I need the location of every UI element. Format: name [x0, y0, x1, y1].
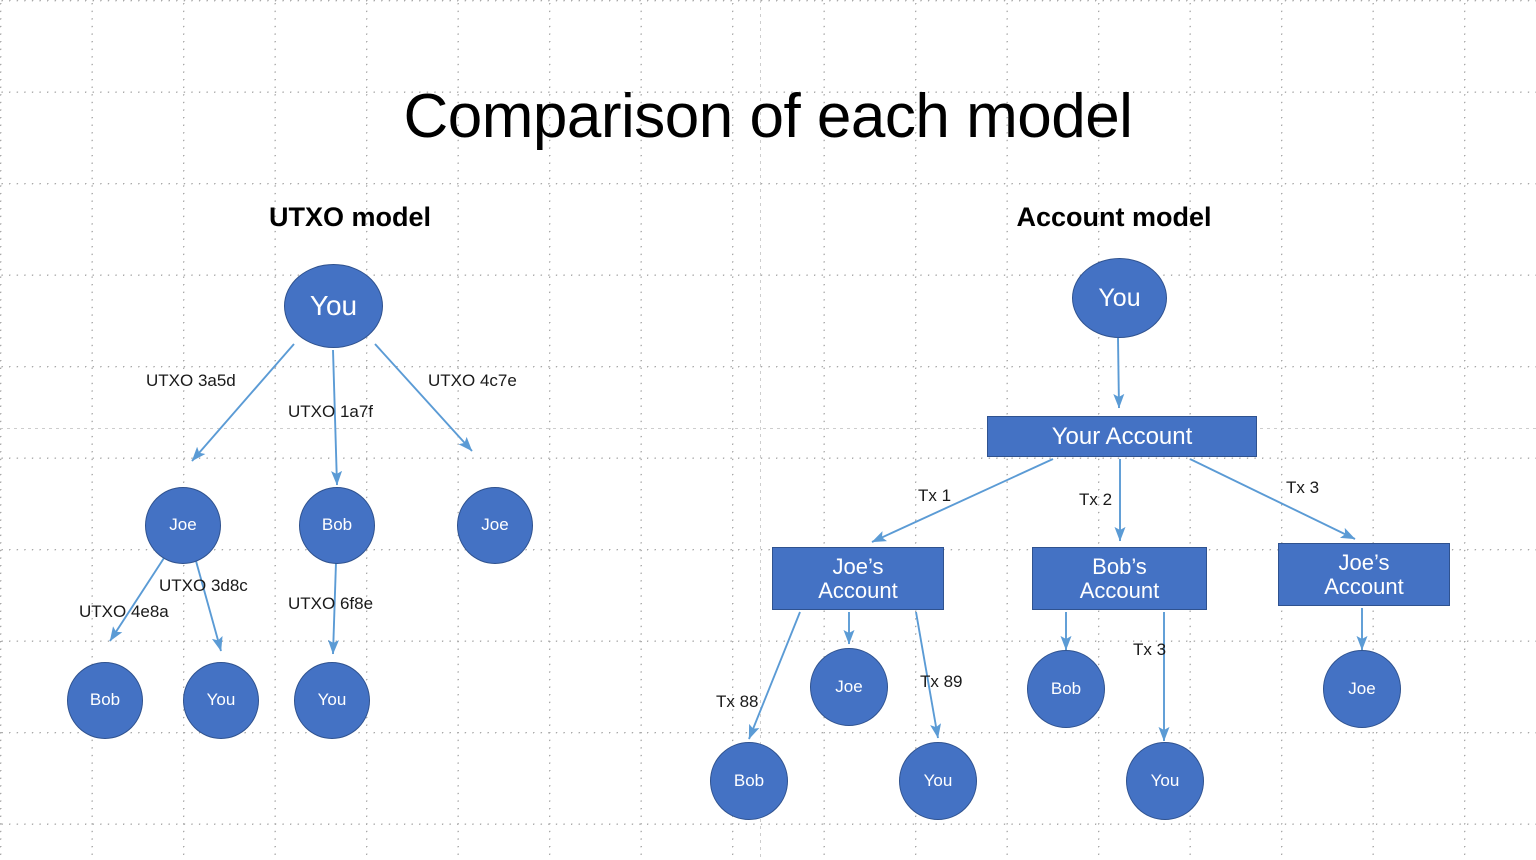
- utxo-node-you-root[interactable]: You: [284, 264, 383, 348]
- account-box-line2: Account: [1080, 579, 1160, 603]
- page-title: Comparison of each model: [0, 86, 1536, 148]
- account-box-line1: Joe’s: [833, 555, 884, 579]
- account-box-line1: Joe’s: [1339, 551, 1390, 575]
- account-box-line2: Account: [818, 579, 898, 603]
- account-node-joes-account-2[interactable]: Joe’s Account: [1278, 543, 1450, 606]
- edge-label-utxo-1a7f: UTXO 1a7f: [288, 403, 373, 420]
- edge-label-tx-88: Tx 88: [716, 693, 759, 710]
- arrow-joes-account-to-bob: [749, 612, 800, 739]
- arrow-joe-to-bob: [110, 558, 164, 641]
- account-node-your-account[interactable]: Your Account: [987, 416, 1257, 457]
- edge-label-tx-3: Tx 3: [1286, 479, 1319, 496]
- account-node-bobs-account[interactable]: Bob’s Account: [1032, 547, 1207, 610]
- edge-label-tx-2: Tx 2: [1079, 491, 1112, 508]
- edge-label-utxo-3a5d: UTXO 3a5d: [146, 372, 236, 389]
- account-box-line1: Bob’s: [1092, 555, 1147, 579]
- edge-label-utxo-6f8e: UTXO 6f8e: [288, 595, 373, 612]
- arrow-your-account-to-joes: [872, 459, 1053, 542]
- utxo-node-bob-1[interactable]: Bob: [299, 487, 375, 564]
- account-node-bob-2[interactable]: Bob: [1027, 650, 1105, 728]
- edge-label-tx-89: Tx 89: [920, 673, 963, 690]
- account-node-you-1[interactable]: You: [899, 742, 977, 820]
- account-node-joe-1[interactable]: Joe: [810, 648, 888, 726]
- edge-label-utxo-3d8c: UTXO 3d8c: [159, 577, 248, 594]
- utxo-node-you-2[interactable]: You: [294, 662, 370, 739]
- arrow-you-to-joe-2: [375, 344, 472, 451]
- slide-canvas: Comparison of each model UTXO model Acco…: [0, 0, 1536, 860]
- account-node-you-2[interactable]: You: [1126, 742, 1204, 820]
- arrow-you-to-joe-1: [192, 344, 294, 461]
- edge-label-utxo-4c7e: UTXO 4c7e: [428, 372, 517, 389]
- utxo-node-joe-2[interactable]: Joe: [457, 487, 533, 564]
- edge-label-tx-1: Tx 1: [918, 487, 951, 504]
- account-node-bob-1[interactable]: Bob: [710, 742, 788, 820]
- edge-label-tx-3-second: Tx 3: [1133, 641, 1166, 658]
- arrow-your-account-to-joes-2: [1190, 459, 1355, 539]
- account-node-you-root[interactable]: You: [1072, 258, 1167, 338]
- section-title-account: Account model: [982, 202, 1246, 233]
- utxo-node-you-1[interactable]: You: [183, 662, 259, 739]
- account-node-joe-2[interactable]: Joe: [1323, 650, 1401, 728]
- arrow-you-to-your-account: [1118, 338, 1119, 408]
- arrow-joe-to-you: [196, 561, 221, 651]
- account-box-line2: Account: [1324, 575, 1404, 599]
- edge-label-utxo-4e8a: UTXO 4e8a: [79, 603, 169, 620]
- utxo-node-bob-2[interactable]: Bob: [67, 662, 143, 739]
- section-title-utxo: UTXO model: [218, 202, 482, 233]
- account-node-joes-account-1[interactable]: Joe’s Account: [772, 547, 944, 610]
- utxo-node-joe-1[interactable]: Joe: [145, 487, 221, 564]
